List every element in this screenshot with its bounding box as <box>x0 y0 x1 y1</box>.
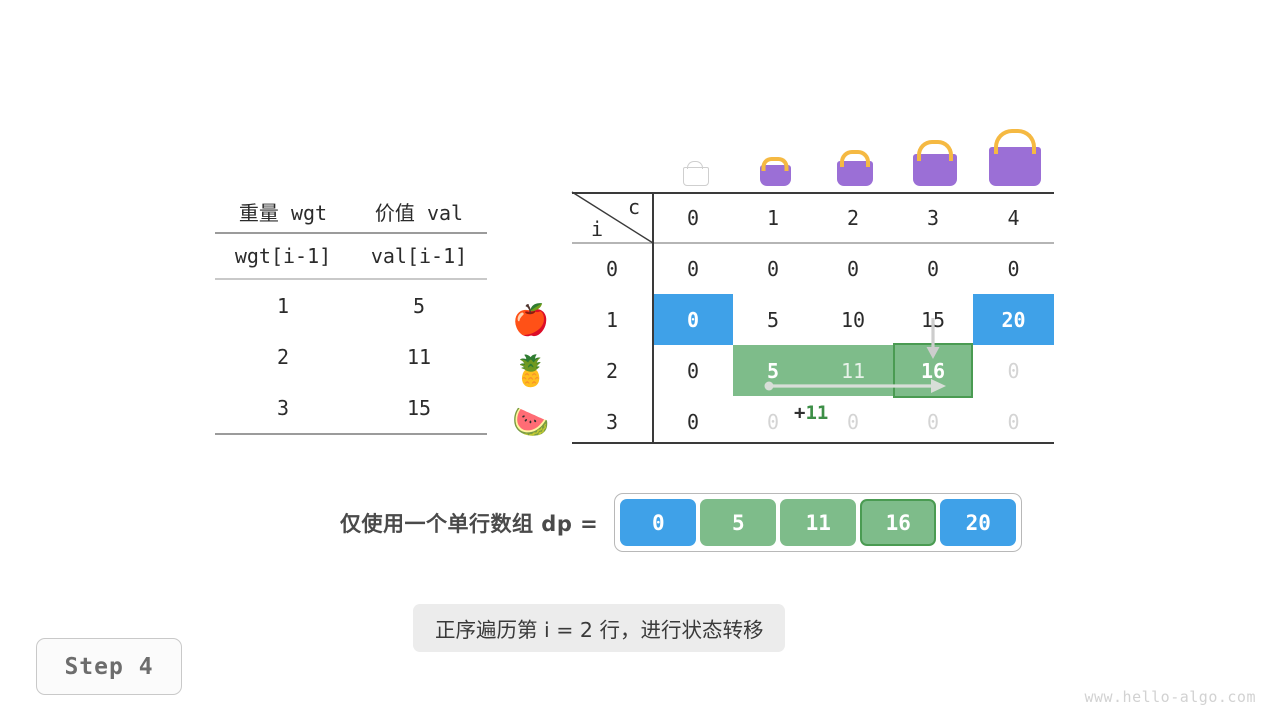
dp-array-cell-2[interactable]: 11 <box>780 499 856 546</box>
dp-cell-3-3: 0 <box>893 396 973 447</box>
item-wgt-1: 1 <box>215 279 351 331</box>
dp-cell-0-4: 0 <box>973 243 1054 294</box>
dp-row-label-3: 3 <box>572 396 652 447</box>
apple-icon: 🍎 <box>505 295 557 346</box>
item-table-grid: 重量 wgt 价值 val wgt[i-1] val[i-1] 1 5 2 11… <box>215 190 487 435</box>
dp-cell-2-4: 0 <box>973 345 1054 396</box>
right-arrow-icon <box>764 377 954 395</box>
table-row: 2 11 <box>215 331 487 382</box>
dp-row-label-2: 2 <box>572 345 652 396</box>
bag-icon-1 <box>735 165 815 190</box>
item-table-subheader-wgt: wgt[i-1] <box>215 233 351 279</box>
dp-cell-1-2: 10 <box>813 294 893 345</box>
down-arrow-icon <box>924 318 944 362</box>
transition-delta-sign: + <box>794 402 805 424</box>
dp-cell-1-0: 0 <box>653 294 733 345</box>
dp-cell-3-0: 0 <box>653 396 733 447</box>
dp-array-container: 0 5 11 16 20 <box>614 493 1022 552</box>
dp-corner-row-label: i <box>576 216 618 242</box>
fruit-icon-column: 🍎 🍍 🍉 <box>505 295 557 448</box>
item-val-2: 11 <box>351 331 487 382</box>
watermark: www.hello-algo.com <box>1084 688 1256 706</box>
bag-icon-4 <box>975 147 1055 190</box>
dp-cell-1-1: 5 <box>733 294 813 345</box>
dp-cell-2-0: 0 <box>653 345 733 396</box>
bag-icon-empty <box>655 167 735 190</box>
item-table-header-wgt: 重量 wgt <box>215 190 351 233</box>
dp-array-section: 仅使用一个单行数组 dp = 0 5 11 16 20 <box>340 493 1022 552</box>
item-table-header-val: 价值 val <box>351 190 487 233</box>
dp-capacity-header-0: 0 <box>653 192 733 243</box>
item-val-3: 15 <box>351 382 487 434</box>
dp-cell-0-1: 0 <box>733 243 813 294</box>
dp-cell-1-4: 20 <box>973 294 1054 345</box>
bag-icon-row <box>655 122 1055 190</box>
bag-icon-3 <box>895 154 975 190</box>
dp-cell-3-4: 0 <box>973 396 1054 447</box>
item-wgt-3: 3 <box>215 382 351 434</box>
dp-array-cell-3[interactable]: 16 <box>860 499 936 546</box>
dp-cell-0-3: 0 <box>893 243 973 294</box>
watermelon-icon: 🍉 <box>505 397 557 448</box>
item-table: 重量 wgt 价值 val wgt[i-1] val[i-1] 1 5 2 11… <box>215 190 487 435</box>
table-row: 3 15 <box>215 382 487 434</box>
dp-array-label: 仅使用一个单行数组 dp = <box>340 508 598 538</box>
dp-row-label-1: 1 <box>572 294 652 345</box>
item-val-1: 5 <box>351 279 487 331</box>
dp-array-cell-1[interactable]: 5 <box>700 499 776 546</box>
transition-delta-label: +11 <box>794 402 828 424</box>
dp-capacity-header-1: 1 <box>733 192 813 243</box>
dp-row-label-0: 0 <box>572 243 652 294</box>
transition-delta-amount: 11 <box>805 402 828 424</box>
item-table-subheader-row: wgt[i-1] val[i-1] <box>215 233 487 279</box>
dp-cell-0-0: 0 <box>653 243 733 294</box>
dp-cell-0-2: 0 <box>813 243 893 294</box>
item-wgt-2: 2 <box>215 331 351 382</box>
dp-array-cell-0[interactable]: 0 <box>620 499 696 546</box>
bag-icon-2 <box>815 161 895 190</box>
dp-capacity-header-2: 2 <box>813 192 893 243</box>
dp-capacity-header-4: 4 <box>973 192 1054 243</box>
pineapple-icon: 🍍 <box>505 346 557 397</box>
item-table-subheader-val: val[i-1] <box>351 233 487 279</box>
caption-text: 正序遍历第 i = 2 行，进行状态转移 <box>413 604 785 652</box>
dp-table: c i 0 1 2 3 4 0 1 2 3 0 0 0 0 0 0 5 10 1… <box>572 192 1054 444</box>
dp-array-cell-4[interactable]: 20 <box>940 499 1016 546</box>
item-table-header-row: 重量 wgt 价值 val <box>215 190 487 233</box>
dp-capacity-header-3: 3 <box>893 192 973 243</box>
dp-corner-col-label: c <box>612 194 656 220</box>
table-row: 1 5 <box>215 279 487 331</box>
step-badge: Step 4 <box>36 638 182 695</box>
